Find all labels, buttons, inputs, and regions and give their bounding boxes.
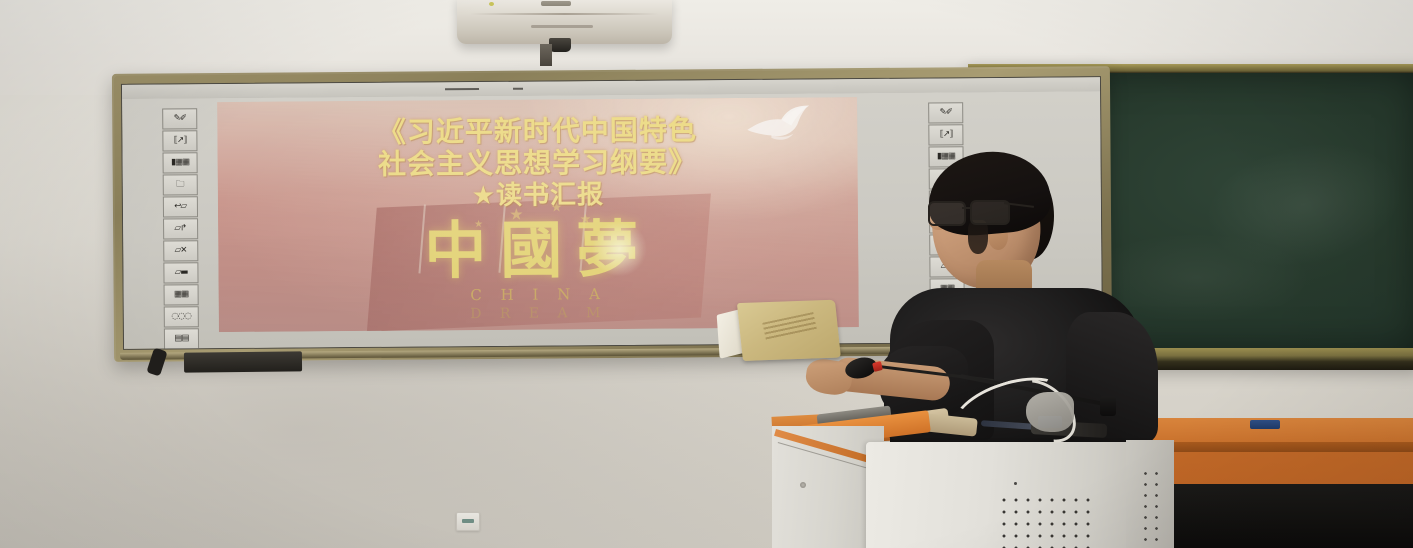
projector-lens [549, 38, 571, 52]
microphone-base [1100, 396, 1116, 416]
shapes-glyph: ◌◌◌ [171, 313, 191, 322]
ruler-glyph: ▱▬ [175, 269, 188, 278]
keyboard-glyph: ▮▦▦ [171, 159, 189, 168]
slide-title-line-1: 《习近平新时代中国特色 [217, 113, 857, 150]
redo-glyph: ▱↱ [175, 225, 187, 234]
layers-glyph: ▤▤ [174, 335, 188, 344]
speaker-grille [998, 494, 1098, 548]
projector-led-icon [489, 2, 494, 6]
gray-cable-coil [1026, 392, 1074, 432]
slide-title: 《习近平新时代中国特色 社会主义思想学习纲要》 ★读书汇报 [217, 113, 858, 213]
slide-title-line-3: ★读书汇报 [218, 178, 858, 213]
open-book [716, 296, 842, 368]
lectern-front-panel [866, 442, 1154, 548]
ceiling-projector [457, 0, 672, 44]
classroom-photo-scene: ★ ★ ★ ★ 《习近平新时代中国特色 社会主义思想学习纲要》 ★读书汇报 中國… [0, 0, 1413, 548]
layers-icon[interactable]: ▤▤ [164, 328, 199, 349]
speaker-grille-side [1140, 468, 1162, 548]
ruler-icon[interactable]: ▱▬ [163, 262, 198, 283]
eyeglasses [926, 198, 1012, 224]
projected-presentation-slide: ★ ★ ★ ★ 《习近平新时代中国特色 社会主义思想学习纲要》 ★读书汇报 中國… [217, 97, 859, 332]
slide-calligraphy: 中國夢 [218, 217, 858, 284]
microphone-red-ring [872, 361, 883, 372]
undo-arrow-icon[interactable]: ↩▱ [163, 196, 198, 217]
whiteboard-left-toolbar[interactable]: ✎✐ ⟦↗⟧ ▮▦▦ 🗀 ↩▱ ▱↱ ▱✕ ▱▬ ▦▦ ◌◌◌ ▤▤ ⁙⁙ T≡… [162, 108, 199, 350]
select-frame-icon[interactable]: ⟦↗⟧ [928, 124, 963, 145]
blue-object-on-desk [1250, 420, 1280, 429]
grid-pages-icon[interactable]: ▦▦ [164, 284, 199, 305]
projector-label-strip [531, 25, 593, 28]
projector-glare [589, 218, 649, 278]
hand-write-glyph: ✎✐ [939, 109, 952, 118]
glasses-lens-left [928, 201, 966, 226]
select-frame-icon[interactable]: ⟦↗⟧ [162, 130, 197, 151]
hand-write-glyph: ✎✐ [173, 115, 186, 124]
projector-mount [540, 44, 552, 66]
hand-write-icon[interactable]: ✎✐ [928, 102, 963, 123]
lectern-screw [800, 482, 806, 488]
select-frame-glyph: ⟦↗⟧ [939, 131, 952, 140]
keyboard-icon[interactable]: ▮▦▦ [163, 152, 198, 173]
lectern-indicator [1014, 482, 1017, 485]
eraser-glyph: ▱✕ [175, 247, 187, 256]
folder-icon[interactable]: 🗀 [163, 174, 198, 195]
whiteboard-wall-mount [184, 351, 302, 372]
bezel-marking [513, 88, 523, 90]
folder-glyph: 🗀 [176, 181, 184, 190]
outlet-slot [462, 519, 474, 523]
projector-vent [541, 1, 571, 6]
slide-title-line-2: 社会主义思想学习纲要》 [217, 146, 857, 183]
hand-write-icon[interactable]: ✎✐ [162, 108, 197, 129]
shapes-icon[interactable]: ◌◌◌ [164, 306, 199, 327]
sideburn [968, 220, 988, 254]
eraser-icon[interactable]: ▱✕ [163, 240, 198, 261]
select-frame-glyph: ⟦↗⟧ [173, 137, 186, 146]
bezel-marking [445, 88, 479, 90]
undo-glyph: ↩▱ [174, 203, 186, 212]
glasses-bridge [962, 207, 972, 209]
redo-shape-icon[interactable]: ▱↱ [163, 218, 198, 239]
grid-glyph: ▦▦ [174, 291, 188, 300]
projector-seam [470, 13, 659, 15]
power-outlet [456, 512, 480, 531]
